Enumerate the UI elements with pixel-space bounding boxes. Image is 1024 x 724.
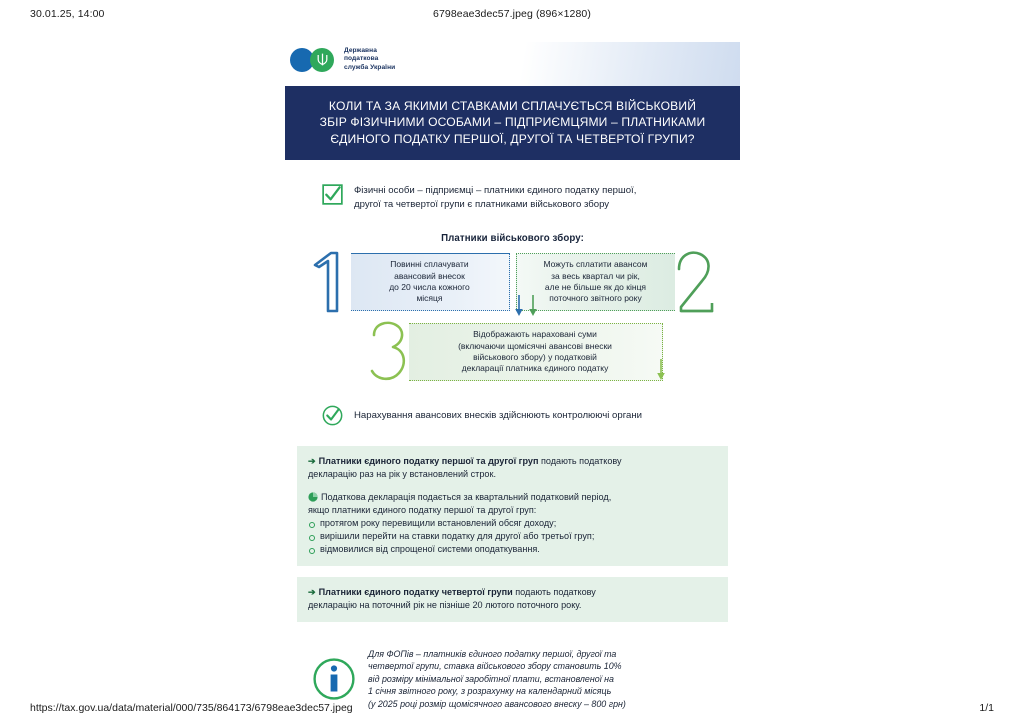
- gb1-bullet-2: вирішили перейти на ставки податку для д…: [308, 530, 717, 543]
- gb1-para2: Податкова декларація подається за кварта…: [308, 491, 717, 556]
- info-icon: [313, 658, 355, 700]
- step-1-line-3: до 20 числа кожного: [389, 282, 470, 293]
- step-block-3-panel: Відображають нараховані суми (включаючи …: [409, 323, 663, 381]
- step-2-line-3: але не більше як до кінця: [543, 282, 647, 293]
- title-line-2: ЗБІР ФІЗИЧНИМИ ОСОБАМИ – ПІДПРИЄМЦЯМИ – …: [299, 114, 726, 130]
- circle-check-icon: [322, 405, 343, 426]
- rate-info-line-4: 1 січня звітного року, з розрахунку на к…: [368, 685, 626, 697]
- logo-text-line-1: Державна: [344, 47, 395, 55]
- infographic-body: Фізичні особи – підприємці – платники єд…: [285, 184, 740, 426]
- step-2-line-4: поточного звітного року: [543, 293, 647, 304]
- gb1-bullet-list: протягом року перевищили встановлений об…: [308, 517, 717, 556]
- step-block-2-panel: Можуть сплатити авансом за весь квартал …: [516, 253, 675, 311]
- numeral-2-icon: [669, 247, 721, 317]
- rate-info-line-5: (у 2025 році розмір щомісячного авансово…: [368, 698, 626, 710]
- statement-row-2: Нарахування авансових внесків здійснюють…: [297, 405, 728, 426]
- gb1-para1-rest: подають податкову: [538, 456, 621, 466]
- statement-row-1: Фізичні особи – підприємці – платники єд…: [297, 184, 728, 211]
- logo-green-circle-trident-icon: [310, 48, 334, 72]
- arrow-right-icon-2: ➔: [308, 587, 316, 597]
- organization-logo: Державна податкова служба України: [290, 47, 395, 72]
- gb1-para1-bold: Платники єдиного податку першої та друго…: [319, 456, 539, 466]
- step-block-1: Повинні сплачувати авансовий внесок до 2…: [305, 251, 510, 313]
- arrow-down-blue-icon: [514, 295, 524, 317]
- step-1-line-2: авансовий внесок: [389, 271, 470, 282]
- rate-info-line-2: четвертої групи, ставка військового збор…: [368, 660, 626, 672]
- print-page-number: 1/1: [979, 702, 994, 714]
- rate-info-row: Для ФОПів – платників єдиного податку пе…: [297, 648, 728, 710]
- logo-text: Державна податкова служба України: [344, 47, 395, 72]
- step-3-line-1: Відображають нараховані суми: [458, 329, 612, 340]
- gb1-para2-line2: якщо платники єдиного податку першої та …: [308, 504, 717, 517]
- step-3-line-2: (включаючи щомісячні авансові внески: [458, 341, 612, 352]
- step-2-line-1: Можуть сплатити авансом: [543, 259, 647, 270]
- statement-row-1-line-1: Фізичні особи – підприємці – платники єд…: [354, 184, 636, 197]
- logo-marks: [290, 48, 337, 72]
- statement-row-2-text: Нарахування авансових внесків здійснюють…: [354, 409, 642, 422]
- declaration-info-box-2: ➔Платники єдиного податку четвертої груп…: [297, 577, 728, 622]
- title-line-1: КОЛИ ТА ЗА ЯКИМИ СТАВКАМИ СПЛАЧУЄТЬСЯ ВІ…: [299, 98, 726, 114]
- step-3-line-4: декларації платника єдиного податку: [458, 363, 612, 374]
- statement-row-1-text: Фізичні особи – підприємці – платники єд…: [354, 184, 636, 211]
- step-1-line-4: місяця: [389, 293, 470, 304]
- logo-text-line-3: служба України: [344, 64, 395, 72]
- title-line-3: ЄДИНОГО ПОДАТКУ ПЕРШОЇ, ДРУГОЇ ТА ЧЕТВЕР…: [299, 131, 726, 147]
- gb1-para2-line1-wrap: Податкова декларація подається за кварта…: [308, 491, 717, 504]
- logo-text-line-2: податкова: [344, 55, 395, 63]
- arrow-down-green-icon: [528, 295, 538, 317]
- step-1-line-1: Повинні сплачувати: [389, 259, 470, 270]
- numeral-1-icon: [305, 247, 357, 317]
- arrow-down-lightgreen-icon: [656, 359, 666, 381]
- gb2-bold: Платники єдиного податку четвертої групи: [319, 587, 513, 597]
- title-banner: КОЛИ ТА ЗА ЯКИМИ СТАВКАМИ СПЛАЧУЄТЬСЯ ВІ…: [285, 86, 740, 160]
- gb2-rest: подають податкову: [513, 587, 596, 597]
- gb1-para1-line2: декларацію раз на рік у встановлений стр…: [308, 468, 717, 481]
- rate-info-line-1: Для ФОПів – платників єдиного податку пе…: [368, 648, 626, 660]
- gb1-bullet-3: відмовилися від спрощеної системи оподат…: [308, 543, 717, 556]
- step-block-1-panel: Повинні сплачувати авансовий внесок до 2…: [351, 253, 510, 311]
- gb1-bullet-1: протягом року перевищили встановлений об…: [308, 517, 717, 530]
- payers-heading: Платники військового збору:: [297, 233, 728, 244]
- arrow-right-icon: ➔: [308, 456, 316, 466]
- gb2-line2: декларацію на поточний рік не пізніше 20…: [308, 599, 717, 612]
- gb1-para2-line1: Податкова декларація подається за кварта…: [321, 492, 611, 502]
- step-2-line-2: за весь квартал чи рік,: [543, 271, 647, 282]
- gb1-para1: ➔Платники єдиного податку першої та друг…: [308, 455, 717, 468]
- statement-row-1-line-2: другої та четвертої групи є платниками в…: [354, 198, 636, 211]
- gb2-line1: ➔Платники єдиного податку четвертої груп…: [308, 586, 717, 599]
- declaration-info-box-1: ➔Платники єдиного податку першої та друг…: [297, 446, 728, 566]
- steps-row-top: Повинні сплачувати авансовий внесок до 2…: [297, 251, 728, 313]
- step-3-line-3: військового збору) у податковій: [458, 352, 612, 363]
- step-block-3: Відображають нараховані суми (включаючи …: [363, 321, 663, 383]
- rate-info-text: Для ФОПів – платників єдиного податку пе…: [368, 648, 626, 710]
- infographic-card: Державна податкова служба України КОЛИ Т…: [285, 42, 740, 652]
- pie-chart-icon: [308, 492, 318, 502]
- checkbox-check-icon: [322, 184, 343, 205]
- print-source-url[interactable]: https://tax.gov.ua/data/material/000/735…: [30, 702, 353, 714]
- step-block-2: Можуть сплатити авансом за весь квартал …: [516, 251, 721, 313]
- printed-page: 30.01.25, 14:00 6798eae3dec57.jpeg (896×…: [0, 0, 1024, 724]
- steps-row-bottom: Відображають нараховані суми (включаючи …: [297, 321, 728, 383]
- logo-band: Державна податкова служба України: [285, 42, 740, 86]
- print-date-time: 30.01.25, 14:00: [30, 8, 104, 20]
- rate-info-line-3: від розміру мінімальної заробітної плати…: [368, 673, 626, 685]
- print-file-label: 6798eae3dec57.jpeg (896×1280): [433, 8, 591, 20]
- numeral-3-icon: [363, 317, 415, 387]
